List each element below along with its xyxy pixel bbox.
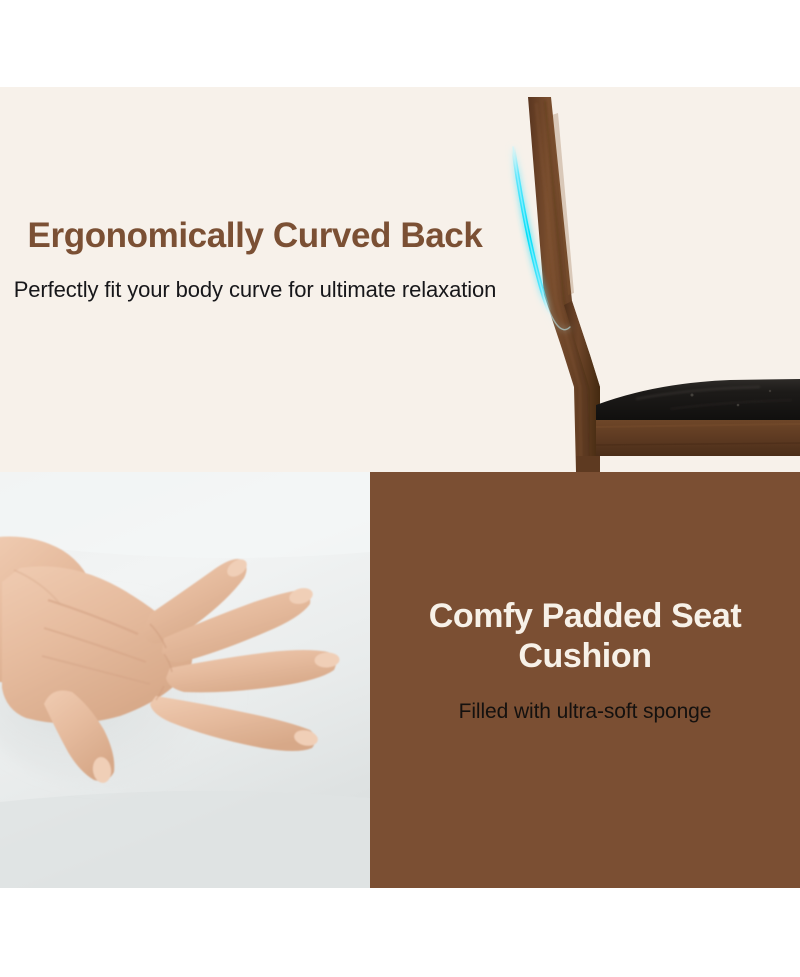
- top-panel-copy: Ergonomically Curved Back Perfectly fit …: [0, 215, 510, 305]
- product-feature-infographic: Ergonomically Curved Back Perfectly fit …: [0, 0, 800, 977]
- bottom-panel-subcopy: Filled with ultra-soft sponge: [370, 698, 800, 725]
- sponge-hand-image: [0, 472, 370, 888]
- bottom-panel-copy: Comfy Padded Seat Cushion Filled with ul…: [370, 596, 800, 726]
- bottom-panel-headline: Comfy Padded Seat Cushion: [370, 596, 800, 676]
- padded-seat-panel: Comfy Padded Seat Cushion Filled with ul…: [0, 472, 800, 888]
- top-panel-headline: Ergonomically Curved Back: [0, 215, 510, 256]
- top-panel-subcopy: Perfectly fit your body curve for ultima…: [0, 276, 510, 305]
- padded-seat-copy-block: Comfy Padded Seat Cushion Filled with ul…: [370, 472, 800, 888]
- ergonomic-back-panel: Ergonomically Curved Back Perfectly fit …: [0, 87, 800, 472]
